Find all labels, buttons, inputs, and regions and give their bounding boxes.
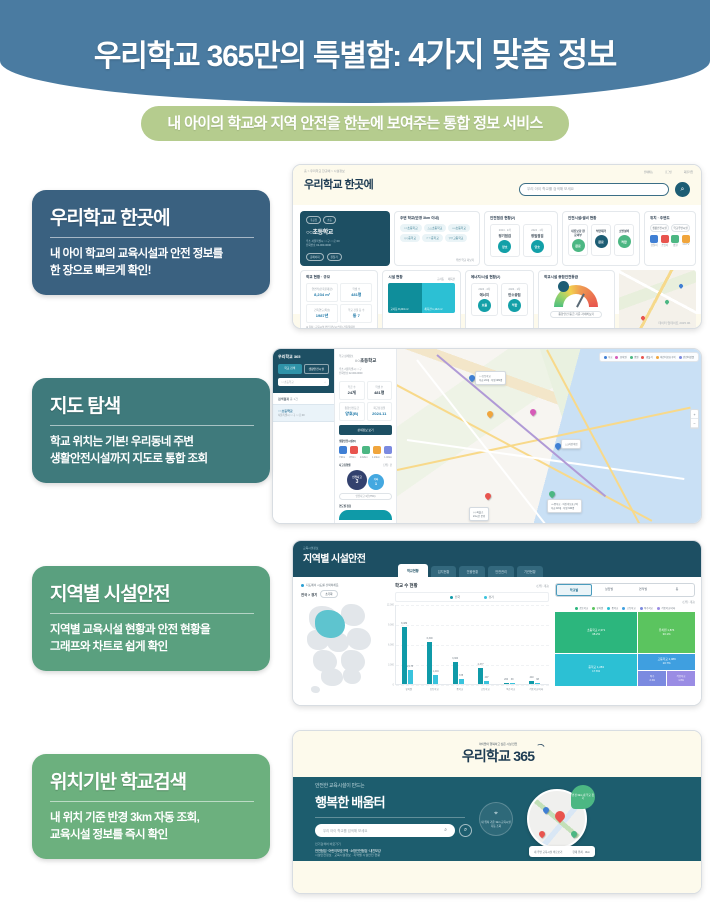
feature-row-4: 위치기반 학교검색 내 위치 기준 반경 3km 자동 조회, 교육시설 정보를… [0, 722, 710, 910]
stat-value: 1987년 [309, 313, 335, 319]
tab-school-status[interactable]: 학교현황 [398, 564, 428, 577]
bar-value-label: 678 [459, 674, 463, 677]
tab-building-status[interactable]: 건물현황 [459, 566, 485, 577]
gnb-item-menu[interactable]: 전체메뉴 [644, 170, 653, 174]
bar-value-label: 200 [504, 678, 508, 681]
facility-kpi: 소방설비 적합 [614, 224, 634, 256]
legend-item: 학교 [604, 355, 613, 359]
treemap-tab-by-area[interactable]: 면적별 [626, 584, 660, 596]
stat-label: 건축연도(최초) [309, 308, 335, 312]
dashboard-header: 홈 > 우리학교 한곳에 > 시설정보 우리학교 한곳에 전체메뉴 로그인 회원… [293, 165, 702, 205]
sidebar-logo: 우리학교 365 [278, 354, 329, 360]
treemap-block-gym[interactable]: 체육관 1,142 m² [422, 283, 454, 313]
map-callout[interactable]: ○○초등학교 학급 24개 · 학생 481명 [475, 371, 506, 385]
safety-inspection-card: 안전점검 현황(2) 2024 · 2차 정기점검 양호 2024 · 1차 정… [484, 211, 558, 266]
bar[interactable]: 440 [529, 681, 534, 684]
detail-kpi: 학급 수 24개 [339, 381, 365, 400]
y-axis-tick: 6,000 [388, 644, 396, 647]
bar-value-label: 39 [511, 678, 514, 681]
korea-map[interactable] [301, 600, 385, 695]
bar-value-label: 2,175 [407, 665, 413, 668]
dashboard-row-top: 국공립 초등 ○○초등학교 주소 서울특별시 ○○구 ○○로 00 전화번호 0… [300, 211, 696, 266]
bar-group[interactable]: 2,377497 [478, 668, 489, 684]
search-input[interactable]: 우리 아이 학교를 검색해 보세요 [519, 183, 669, 196]
bar-group[interactable]: 20039 [504, 683, 515, 685]
map-marker-zone[interactable] [486, 410, 494, 418]
icon-label: 경찰서 [650, 243, 658, 247]
bar[interactable]: 497 [484, 681, 489, 684]
y-axis-tick: 9,000 [388, 624, 396, 627]
x-axis-tick: 특수학교 [506, 687, 515, 691]
usage-legend-2: 체육관 [448, 277, 455, 281]
legend-item: 병원 [630, 355, 639, 359]
x-axis-tick: 초등학교 [430, 687, 439, 691]
nearby-chip[interactable]: ○○초등학교 [400, 224, 422, 232]
detail-kpi: 최근점검일 2024.11 [367, 402, 393, 421]
popular-links-title: 인기검색어 바로가기 [315, 842, 465, 846]
treemap-tab-by-school[interactable]: 학교별 [556, 584, 592, 596]
energy-value-badge: 적합 [508, 299, 521, 312]
korea-map-column: 지도에서 시도를 선택하세요. 전국 > 경기 초기화 [301, 583, 389, 701]
treemap-tabs: 학교별 설립별 면적별 동 [555, 583, 695, 597]
map-info-bar: 내 주변 교육시설 바로보기 현재 위치 · 3km [529, 846, 595, 857]
search-icon[interactable]: ⌕ [675, 182, 690, 197]
bar-value-label: 3,300 [452, 657, 458, 660]
map-pin-green [664, 299, 670, 305]
gnb-item-join[interactable]: 회원가입 [684, 170, 693, 174]
bar-value-label: 98 [536, 678, 539, 681]
chart-title: 학교 수 현황 [395, 583, 418, 589]
stat-value: 481명 [343, 292, 369, 298]
region-breadcrumb: 전국 > 경기 초기화 [301, 590, 389, 598]
page-title-accent: 4가지 맞춤 정보 [408, 36, 616, 73]
police-icon[interactable] [650, 235, 658, 243]
accident-chart-title: 사고유형별 [339, 463, 350, 467]
feature-title-2: 지도 탐색 [50, 391, 254, 426]
school-info-card: 국공립 초등 ○○초등학교 주소 서울특별시 ○○구 ○○로 00 전화번호 0… [300, 211, 390, 266]
bar[interactable]: 2,175 [408, 670, 413, 685]
page-header-banner: 우리학교 365만의 특별함: 4가지 맞춤 정보 [0, 0, 710, 103]
map-sidebar: 우리학교 365 학교 검색 생활안전시설 ○○초등학교 ⌕ 검색결과 총 1건 [273, 349, 335, 523]
map-marker-hospital [570, 830, 578, 838]
screenshot-location-search: 아이들이 행복하고 싶은 시설 안전 우리학교 365 ⌒ 안전한 교육시설이 … [292, 730, 702, 894]
detail-more-button[interactable]: 상세정보 보기 [339, 425, 392, 435]
safety-kpi: 2024 · 1차 정밀점검 양호 [523, 224, 553, 257]
bar[interactable]: 39 [510, 683, 515, 685]
tab-org-status[interactable]: 기관현황 [517, 566, 543, 577]
stat-label: 학교 건물 동 수 [343, 308, 369, 312]
stat-cell: 건축연도(최초) 1987년 [306, 304, 338, 323]
location-search-button[interactable]: ⌕ [459, 824, 472, 837]
feature-row-2: 지도 탐색 학교 위치는 기본! 우리동네 주변 생활안전시설까지 지도로 통합… [0, 346, 710, 534]
nearby-chip[interactable]: ☆☆중학교 [422, 234, 443, 242]
nearby-chip-list: ○○초등학교 △△초등학교 □□초등학교 ◇◇중학교 ☆☆중학교 ▽▽고등학교 [400, 224, 474, 242]
treemap-unit: (단위 : 개교) [555, 600, 695, 604]
chart-unit: (단위 : 개교) [536, 584, 549, 588]
facility-label: 석면제거 [594, 229, 608, 233]
subtitle-pill: 내 아이의 학교와 지역 안전을 한눈에 보여주는 통합 정보 서비스 [141, 106, 568, 141]
zoom-in-button[interactable]: + [691, 410, 698, 419]
popular-links-sub[interactable]: 시설안전정보 · 교육시설정보 · 지역별 시설안전 현황 [315, 853, 465, 857]
gnb-item-login[interactable]: 로그인 [665, 170, 672, 174]
legend-item: 경찰서 [641, 355, 652, 359]
bar-value-label: 497 [485, 676, 489, 679]
fire-station-icon[interactable] [661, 235, 669, 243]
bar[interactable]: 678 [459, 679, 464, 684]
safety-gauge-card: 학교시설 종합안전등급 종합안전 등급 기준 자세히보기 [538, 270, 615, 329]
chart-legend: 전국 경기 [395, 592, 549, 602]
nearby-chip[interactable]: ▽▽고등학교 [445, 234, 468, 242]
hero-subtitle: 안전한 교육시설이 만드는 [315, 782, 465, 789]
site-logo: 우리학교 365 ⌒ [462, 746, 534, 766]
treemap-tab-by-building[interactable]: 동 [660, 584, 694, 596]
map-callout[interactable]: ◇◇파출소 24시간 운영 [469, 507, 489, 521]
bar-group[interactable]: 3,300678 [453, 662, 464, 684]
bar[interactable]: 200 [504, 683, 509, 685]
dashboard-row-bottom: 학교 현황 · 규모 연면적(건축물대장) 8,234 m² 학생 수 481명 [300, 270, 696, 329]
safety-gauge-chart [554, 285, 598, 307]
bar-value-label: 6,300 [427, 637, 433, 640]
usage-treemap-card: 시설 현황 교사동 체육관 교사동 8,234 m² [382, 270, 460, 329]
gauge-grade-badge [558, 281, 569, 292]
feature-row-3: 지역별 시설안전 지역별 교육시설 현황과 안전 현황을 그래프와 차트로 쉽게… [0, 534, 710, 722]
page-bottom-area [293, 861, 702, 894]
treemap-cell-other[interactable]: 각종학교1.3% [667, 671, 695, 686]
legend-item: 어린이보호구역 [656, 355, 676, 359]
screenshot-dashboard: 홈 > 우리학교 한곳에 > 시설정보 우리학교 한곳에 전체메뉴 로그인 회원… [292, 164, 702, 329]
bar-group[interactable]: 6,3001,404 [427, 642, 438, 684]
feature-desc-2: 학교 위치는 기본! 우리동네 주변 생활안전시설까지 지도로 통합 조회 [50, 434, 254, 469]
cctv-icon[interactable] [682, 235, 690, 243]
legend-item: 유치원 [615, 355, 626, 359]
screenshot-regional-safety: 교육시설정보 지역별 시설안전 학교현황 입지현황 건물현황 안전관리 기관현황 [292, 540, 702, 706]
tab-life-safety[interactable]: 생활안전시설 [304, 364, 330, 374]
sidebar-header: 우리학교 365 학교 검색 생활안전시설 ○○초등학교 ⌕ [273, 349, 334, 393]
feature-title-1: 우리학교 한곳에 [50, 203, 254, 238]
tab-safety-mgmt[interactable]: 안전관리 [488, 566, 514, 577]
detail-address: 서울특별시 ○○구 [344, 368, 361, 371]
facility-label: 소방설비 [617, 229, 631, 233]
accident-chart-unit: 단위 : 건 [383, 463, 392, 467]
school-addr: 서울특별시 ○○구 ○○로 00 [312, 240, 340, 243]
map-marker-fire[interactable] [484, 492, 492, 500]
yearly-chart-title: 연도별 점검 [339, 504, 392, 508]
bar-value-label: 2,377 [478, 663, 484, 666]
stats-note: ※ 출처 : 교육시설 안전 정보시스템 / 건축물대장 [306, 325, 372, 329]
treemap-split-column: 고등학교 1,08910.7% 특수2.1% 각종학교1.3% [638, 654, 695, 686]
school-homepage-button[interactable]: 홈페이지 [306, 253, 324, 261]
map-canvas[interactable]: ○○초등학교 학급 24개 · 학생 481명 △△어린이집 □□중학교 · 어… [397, 349, 702, 523]
school-addr-label: 주소 [306, 240, 311, 243]
x-axis-tick: 각종학교/기타 [529, 687, 543, 691]
regional-header: 교육시설정보 지역별 시설안전 학교현황 입지현황 건물현황 안전관리 기관현황 [293, 541, 702, 577]
legend-series-2: 경기 [484, 595, 494, 599]
usage-title: 시설 현황 [388, 275, 402, 280]
school-tags: 국공립 초등 [306, 216, 384, 224]
energy-title: 에너지/시설 현황(2) [471, 275, 528, 280]
facility-value-badge: 적합 [618, 235, 631, 248]
safety-label: 정기점검 [493, 233, 517, 238]
nearby-chip[interactable]: ◇◇중학교 [400, 234, 420, 242]
map-callout[interactable]: □□중학교 · 어린이보호구역 학급 18개 · 학생 340명 [547, 499, 582, 513]
nearby-chip[interactable]: △△초등학교 [424, 224, 447, 232]
school-tel-label: 전화번호 [306, 244, 316, 247]
treemap-legend-item: 유치원 [592, 606, 603, 610]
facility-value-badge: 완료 [595, 235, 608, 248]
treemap-block-main[interactable]: 교사동 8,234 m² [388, 283, 422, 313]
regional-body: 지도에서 시도를 선택하세요. 전국 > 경기 초기화 [293, 577, 702, 706]
safety-grade-badge: 양호 [498, 240, 511, 253]
site-logo-bar: 아이들이 행복하고 싶은 시설 안전 우리학교 365 ⌒ [293, 731, 702, 777]
stat-cell: 학생 수 481명 [340, 283, 372, 302]
bar-value-label: 1,404 [433, 670, 439, 673]
map-card-title: 위치 · 주변도 [650, 216, 690, 221]
nearby-more-link[interactable]: 주변 학교 더보기 [456, 258, 474, 262]
result-address: 서울특별시 ○○구 ○○로 00 [278, 413, 329, 417]
bar[interactable]: 3,300 [453, 662, 458, 684]
map-marker-kinder[interactable] [529, 408, 537, 416]
feature-label-card-4: 위치기반 학교검색 내 위치 기준 반경 3km 자동 조회, 교육시설 정보를… [32, 754, 270, 859]
location-info-circle: ⌖ 내 위치 기준 3km 교육시설 자동 조회 [479, 802, 513, 836]
accident-donut-chart: 안전사고 3 기타 1 [339, 470, 392, 490]
search-icon[interactable]: ⌕ [444, 827, 447, 833]
legend-series-1: 전국 [450, 595, 460, 599]
school-name: ○○초등학교 [306, 227, 384, 236]
facility-icon-row [339, 446, 392, 454]
detail-kpi-grid: 학급 수 24개 학생 수 481명 종합안전등급 양호(B) 최근점검일 [339, 381, 392, 421]
screenshot-map-explorer: 우리학교 365 학교 검색 생활안전시설 ○○초등학교 ⌕ 검색결과 총 1건 [272, 348, 702, 524]
bar-value-label: 8,489 [401, 622, 407, 625]
detail-kpi: 학생 수 481명 [367, 381, 393, 400]
treemap-cell-kindergarten[interactable]: 유치원 1,87430.1% [638, 612, 695, 653]
map-zoom-controls[interactable]: + − [690, 409, 699, 429]
facility-distance: 1.40km [384, 456, 392, 459]
treemap-legend-item: 중학교 [607, 606, 618, 610]
detail-kpi: 종합안전등급 양호(B) [339, 402, 365, 421]
energy-period: 2024 · 1차 [504, 287, 525, 291]
hero-title: 행복한 배움터 [315, 792, 465, 811]
facility-title: 안전시설/설비 현황 [568, 216, 634, 221]
gauge-title: 학교시설 종합안전등급 [544, 275, 609, 280]
detail-school-name: ○○초등학교 [339, 358, 392, 364]
map-marker-hospital[interactable] [548, 490, 556, 498]
facility-value-badge: 완료 [572, 239, 585, 252]
map-pin-blue [678, 283, 684, 289]
stat-cell: 연면적(건축물대장) 8,234 m² [306, 283, 338, 302]
energy-label: 탄소중립 [504, 292, 525, 297]
safety-title: 안전점검 현황(2) [490, 216, 552, 221]
treemap-cell-middle[interactable]: 중학교 1,28317.6% [555, 654, 637, 686]
search-icon[interactable]: ⌕ [325, 381, 326, 384]
global-nav: 전체메뉴 로그인 회원가입 [644, 170, 693, 174]
feature-label-card-3: 지역별 시설안전 지역별 교육시설 현황과 안전 현황을 그래프와 차트로 쉽게… [32, 566, 270, 671]
icon-label: 병원 [671, 243, 679, 247]
school-stats-card: 학교 현황 · 규모 연면적(건축물대장) 8,234 m² 학생 수 481명 [300, 270, 378, 329]
map-detail-panel: 학교 상세정보 ○○초등학교 주소 서울특별시 ○○구 전화번호 02-000-… [335, 349, 397, 523]
treemap-block: 학교별 설립별 면적별 동 (단위 : 개교) 초등학교 유치원 중학교 고등학… [555, 583, 695, 701]
police-icon[interactable] [339, 446, 347, 454]
facility-kpi-list: 내진보강 완료여부 완료 석면제거 완료 소방설비 적합 [568, 224, 634, 256]
wifi-icon: ⌒ [536, 742, 544, 753]
bar-value-label: 440 [530, 676, 534, 679]
x-axis-tick: 고등학교 [481, 687, 490, 691]
legend-item: 안전비상벨 [679, 355, 695, 359]
donut-segment-other: 기타 1 [368, 474, 384, 490]
result-list-item[interactable]: ○○초등학교 서울특별시 ○○구 ○○로 00 [273, 404, 334, 422]
energy-kpi: 2024 · 2차 에너지 효율 [471, 283, 498, 316]
y-axis-tick: 12,000 [387, 604, 396, 607]
treemap-label: 교사동 8,234 m² [390, 307, 408, 311]
treemap-legend-item: 각종학교/기타 [657, 606, 675, 610]
stat-label: 학생 수 [343, 287, 369, 291]
feature-title-3: 지역별 시설안전 [50, 579, 254, 614]
hero-section: 안전한 교육시설이 만드는 행복한 배움터 우리 아이 학교를 검색해 보세요 … [293, 777, 702, 861]
feature-row-1: 우리학교 한곳에 내 아이 학교의 교육시설과 안전 정보를 한 장으로 빠르게… [0, 158, 710, 346]
regional-tabs: 학교현황 입지현황 건물현황 안전관리 기관현황 [398, 564, 543, 577]
radius-map-illustration[interactable]: 반경 3km 내 학교 찾기 [527, 789, 587, 849]
hero-search-input[interactable]: 우리 아이 학교를 검색해 보세요 ⌕ ⌕ [315, 824, 455, 837]
dashboard-body: 국공립 초등 ○○초등학교 주소 서울특별시 ○○구 ○○로 00 전화번호 0… [293, 205, 702, 314]
bar[interactable]: 98 [535, 683, 540, 685]
treemap-legend-item: 초등학교 [575, 606, 588, 610]
icon-label: CCTV [682, 243, 690, 246]
bar[interactable]: 2,377 [478, 668, 483, 684]
map-tab-life-safety[interactable]: 생활안전시설 [650, 224, 669, 232]
radius-bubble: 반경 3km 내 학교 찾기 [571, 785, 595, 809]
bar[interactable]: 6,300 [427, 642, 432, 684]
safety-kpi-pair: 2024 · 2차 정기점검 양호 2024 · 1차 정밀점검 양호 [490, 224, 552, 257]
nearby-schools-card: 주변 학교(반경 3km 이내) ○○초등학교 △△초등학교 □□초등학교 ◇◇… [394, 211, 480, 266]
safety-grade-badge: 양호 [531, 240, 544, 253]
location-pin-icon: ⌖ [494, 810, 498, 818]
safety-kpi: 2024 · 2차 정기점검 양호 [490, 224, 520, 257]
map-callout[interactable]: △△어린이집 [561, 439, 581, 449]
facility-label: 내진보강 완료여부 [571, 229, 585, 237]
map-tab-school-area[interactable]: 학교주변시설 [671, 224, 690, 232]
treemap-label: 체육관 1,142 m² [424, 307, 442, 311]
hospital-icon[interactable] [671, 235, 679, 243]
map-marker-fire [538, 830, 546, 838]
bar-group[interactable]: 44098 [529, 681, 540, 684]
location-circle-label: 내 위치 기준 3km 교육시설 자동 조회 [480, 820, 512, 828]
page-title: 우리학교 365만의 특별함: 4가지 맞춤 정보 [94, 28, 616, 76]
safety-label: 정밀점검 [526, 233, 550, 238]
facility-treemap: 초등학교 2,37138.2% 유치원 1,87430.1% 중학교 1,283… [555, 612, 695, 686]
facility-section-title: 생활안전시설(5) [339, 439, 392, 443]
subtitle-container: 내 아이의 학교와 지역 안전을 한눈에 보여주는 통합 정보 서비스 [0, 106, 710, 141]
donut-legend-1: 안전사고 3건(75%) [356, 494, 376, 498]
facility-distance: 730m [339, 456, 345, 459]
sidebar-search-input[interactable]: ○○초등학교 ⌕ [278, 378, 329, 386]
gauge-info-button[interactable]: 종합안전 등급 기준 자세히보기 [550, 311, 602, 318]
map-center-pin [553, 809, 567, 823]
hospital-icon[interactable] [362, 446, 370, 454]
facility-distance: 1.02km [360, 456, 368, 459]
sidebar-tabs: 학교 검색 생활안전시설 [278, 364, 329, 374]
usage-legend-1: 교사동 [437, 277, 444, 281]
breadcrumb: 홈 > 우리학교 한곳에 > 시설정보 [304, 169, 694, 173]
usage-treemap: 교사동 8,234 m² 체육관 1,142 m² [388, 283, 454, 313]
energy-label: 에너지 [474, 292, 495, 297]
facility-distance: 1.21km [372, 456, 380, 459]
donut-segment-accident: 안전사고 3 [347, 470, 367, 490]
treemap-legend-item: 특수학교 [640, 606, 653, 610]
page-title-main: 우리학교 365만의 특별함: [94, 40, 408, 73]
school-count-chart-block: 학교 수 현황 (단위 : 개교) 전국 경기 03,0006,0009,000… [395, 583, 549, 701]
popular-links: 인기검색어 바로가기 안전점검 · 어린이보호구역 · 소방안전점검 · 내진보… [315, 842, 465, 857]
map-pin-red [640, 315, 646, 321]
energy-value-badge: 효율 [478, 299, 491, 312]
bar-chart: 03,0006,0009,00012,0008,4892,175유치원6,300… [395, 605, 549, 685]
facility-kpi: 내진보강 완료여부 완료 [568, 224, 588, 256]
school-directions-button[interactable]: 길찾기 [327, 253, 342, 261]
safety-period: 2024 · 1차 [526, 228, 550, 232]
treemap-tab-by-founder[interactable]: 설립별 [592, 584, 626, 596]
school-zone-icon[interactable] [373, 446, 381, 454]
treemap-legend-item: 고등학교 [622, 606, 635, 610]
yearly-chart-shape [339, 510, 392, 520]
treemap-subrow: 특수2.1% 각종학교1.3% [638, 671, 695, 686]
map-icon-row: 경찰서 소방서 병원 [650, 235, 690, 247]
x-axis-tick: 중학교 [456, 687, 463, 691]
reset-button[interactable]: 초기화 [320, 590, 337, 598]
stats-grid: 연면적(건축물대장) 8,234 m² 학생 수 481명 건축연도(최초) 1… [306, 283, 372, 323]
energy-kpi-pair: 2024 · 2차 에너지 효율 2024 · 1차 탄소중립 적합 [471, 283, 528, 316]
stats-title: 학교 현황 · 규모 [306, 275, 372, 280]
y-axis-tick: 3,000 [388, 664, 396, 667]
school-tag-level: 초등 [323, 216, 336, 224]
school-tel: 02-000-0000 [316, 244, 331, 247]
nearby-chip[interactable]: □□초등학교 [448, 224, 470, 232]
treemap-cell-special[interactable]: 특수2.1% [638, 671, 666, 686]
treemap-cell-elementary[interactable]: 초등학교 2,37138.2% [555, 612, 637, 653]
fire-station-icon[interactable] [350, 446, 358, 454]
treemap-cell-high[interactable]: 고등학교 1,08910.7% [638, 654, 695, 670]
facility-distance: 870m [349, 456, 355, 459]
stat-value: 동 7 [343, 313, 369, 319]
bar[interactable]: 1,404 [433, 675, 438, 684]
tab-location-status[interactable]: 입지현황 [431, 566, 457, 577]
bar[interactable]: 8,489 [402, 627, 407, 684]
bar-group[interactable]: 8,4892,175 [402, 627, 413, 684]
energy-card: 에너지/시설 현황(2) 2024 · 2차 에너지 효율 2024 · 1차 … [465, 270, 534, 329]
map-marker-school [542, 806, 550, 814]
feature-desc-1: 내 아이 학교의 교육시설과 안전 정보를 한 장으로 빠르게 확인! [50, 246, 254, 281]
feature-rows: 우리학교 한곳에 내 아이 학교의 교육시설과 안전 정보를 한 장으로 빠르게… [0, 158, 710, 910]
feature-title-4: 위치기반 학교검색 [50, 767, 254, 802]
facility-kpi: 석면제거 완료 [591, 224, 611, 256]
gauge-needle [576, 293, 584, 307]
map-info-left[interactable]: 내 주변 교육시설 바로보기 [534, 850, 562, 854]
x-axis-tick: 유치원 [405, 687, 412, 691]
gauge-container [544, 283, 609, 307]
tab-school-search[interactable]: 학교 검색 [278, 364, 302, 374]
location-map-card: 위치 · 주변도 생활안전시설 학교주변시설 경찰서 [644, 211, 696, 266]
hero-text-block: 안전한 교육시설이 만드는 행복한 배움터 우리 아이 학교를 검색해 보세요 … [315, 782, 465, 857]
energy-kpi: 2024 · 1차 탄소중립 적합 [501, 283, 528, 316]
zoom-out-button[interactable]: − [691, 419, 698, 428]
safety-period: 2024 · 2차 [493, 228, 517, 232]
energy-period: 2024 · 2차 [474, 287, 495, 291]
stat-cell: 학교 건물 동 수 동 7 [340, 304, 372, 323]
detail-tel: 02-000-0000 [349, 372, 363, 375]
feature-label-card-2: 지도 탐색 학교 위치는 기본! 우리동네 주변 생활안전시설까지 지도로 통합… [32, 378, 270, 483]
y-axis-tick: 0 [393, 684, 396, 687]
feature-desc-4: 내 위치 기준 반경 3km 자동 조회, 교육시설 정보를 즉시 확인 [50, 810, 254, 845]
emergency-bell-icon[interactable] [384, 446, 392, 454]
feature-desc-3: 지역별 교육시설 현황과 안전 현황을 그래프와 차트로 쉽게 확인 [50, 622, 254, 657]
map-hint: 지도에서 시도를 선택하세요. [301, 583, 389, 587]
